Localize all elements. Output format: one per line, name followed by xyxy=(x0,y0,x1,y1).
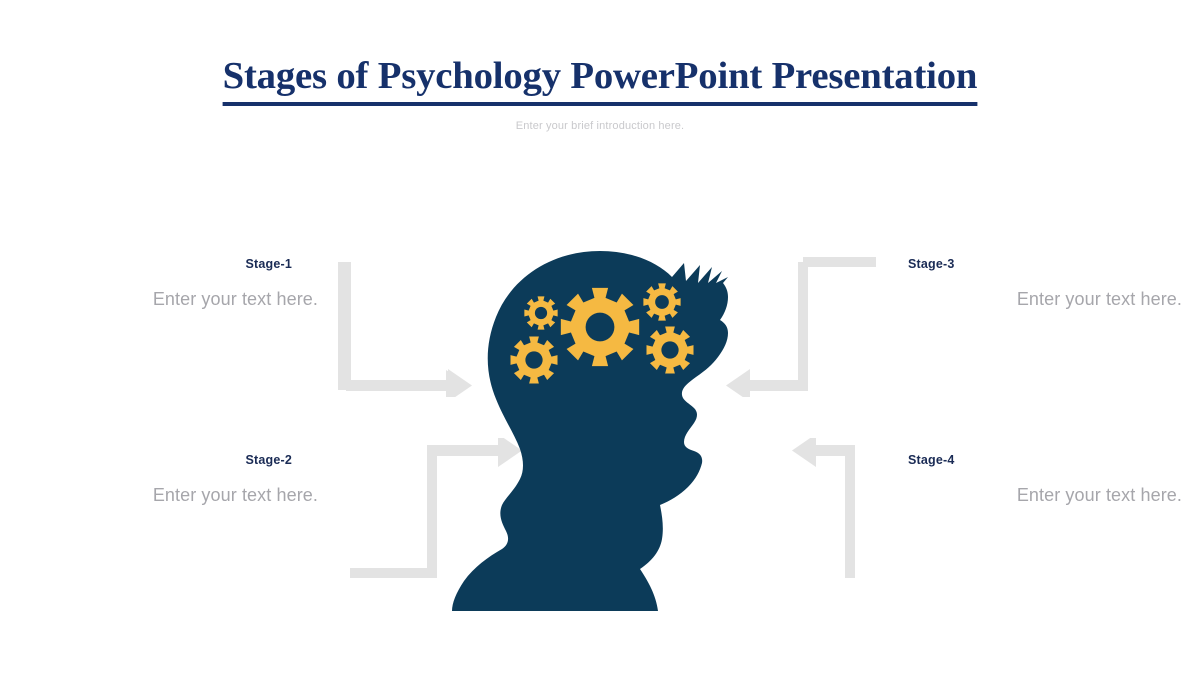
gear-center-large xyxy=(561,288,639,366)
title-block: Stages of Psychology PowerPoint Presenta… xyxy=(0,52,1200,106)
stage-4-text[interactable]: Enter your text here. xyxy=(882,482,1182,508)
stage-2-label: Stage-2 xyxy=(18,452,318,468)
gear-top-right-small xyxy=(643,283,680,320)
stage-3-label: Stage-3 xyxy=(882,256,1182,272)
head-silhouette-with-gears xyxy=(440,243,770,618)
stage-1-block[interactable]: Stage-1 Enter your text here. xyxy=(18,256,318,312)
stage-2-block[interactable]: Stage-2 Enter your text here. xyxy=(18,452,318,508)
stage-1-label: Stage-1 xyxy=(18,256,318,272)
slide-subtitle: Enter your brief introduction here. xyxy=(0,120,1200,132)
stage-3-block[interactable]: Stage-3 Enter your text here. xyxy=(882,256,1182,312)
gear-bottom-left-medium xyxy=(511,337,558,384)
stage-3-text[interactable]: Enter your text here. xyxy=(882,286,1182,312)
stage-4-block[interactable]: Stage-4 Enter your text here. xyxy=(882,452,1182,508)
gear-top-left-small xyxy=(524,296,557,329)
stage-2-text[interactable]: Enter your text here. xyxy=(18,482,318,508)
presentation-slide: Stages of Psychology PowerPoint Presenta… xyxy=(0,0,1200,675)
page-title: Stages of Psychology PowerPoint Presenta… xyxy=(223,52,978,106)
gear-bottom-right-medium xyxy=(647,327,694,374)
stage-1-text[interactable]: Enter your text here. xyxy=(18,286,318,312)
stage-4-label: Stage-4 xyxy=(882,452,1182,468)
